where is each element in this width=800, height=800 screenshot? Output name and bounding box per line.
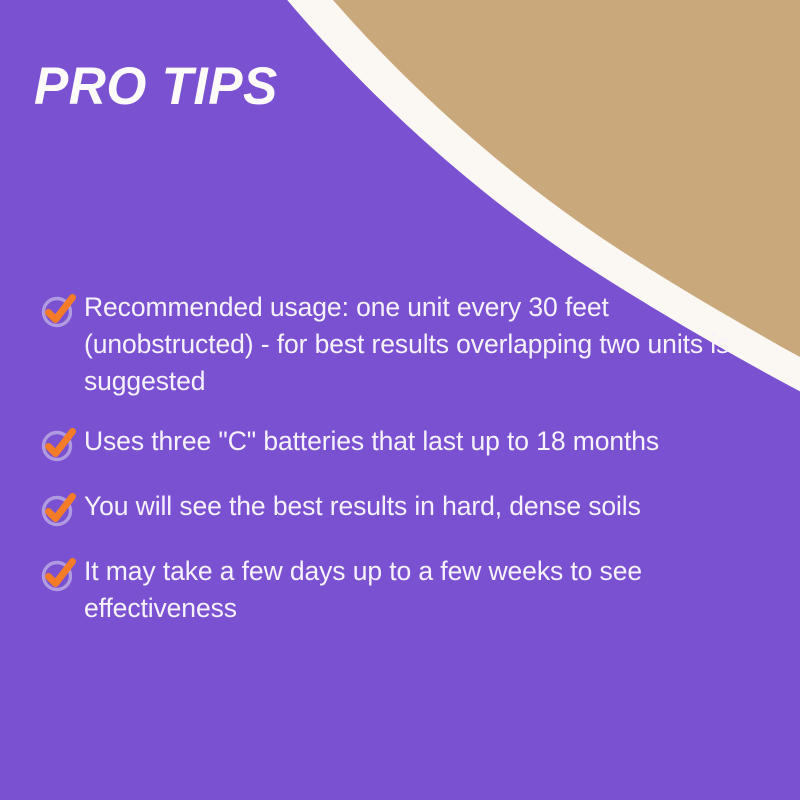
pro-tips-graphic: PRO TIPS Recommended usage: one unit eve… [0, 0, 800, 800]
tips-list: Recommended usage: one unit every 30 fee… [40, 289, 730, 627]
list-item-label: Recommended usage: one unit every 30 fee… [84, 289, 730, 400]
check-circle-icon [40, 490, 84, 530]
list-item: It may take a few days up to a few weeks… [40, 553, 730, 627]
list-item: Recommended usage: one unit every 30 fee… [40, 289, 730, 400]
page-title: PRO TIPS [34, 60, 278, 113]
check-circle-icon [40, 425, 84, 465]
list-item: You will see the best results in hard, d… [40, 488, 730, 530]
check-circle-icon [40, 555, 84, 595]
list-item-label: You will see the best results in hard, d… [84, 488, 730, 525]
list-item: Uses three "C" batteries that last up to… [40, 423, 730, 465]
list-item-label: Uses three "C" batteries that last up to… [84, 423, 730, 460]
list-item-label: It may take a few days up to a few weeks… [84, 553, 730, 627]
check-circle-icon [40, 291, 84, 331]
